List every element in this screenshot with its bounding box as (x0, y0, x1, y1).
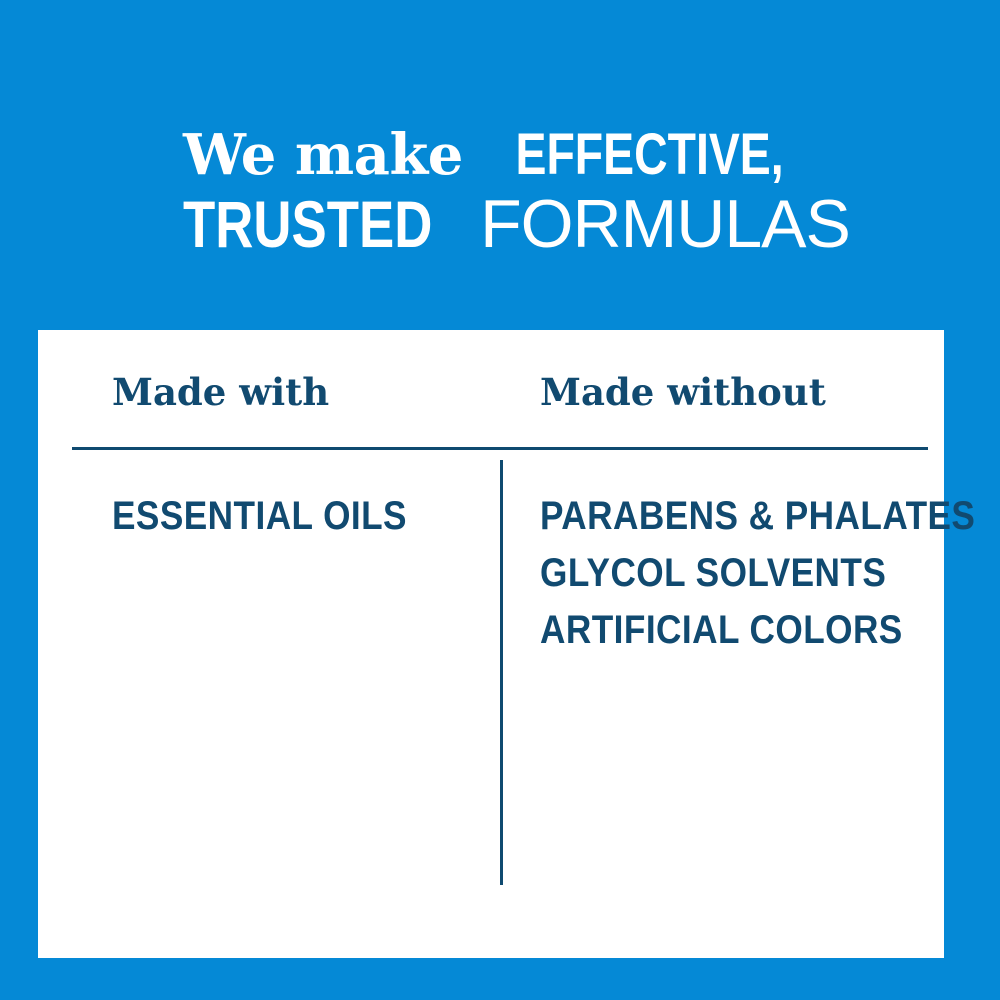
comparison-card: Made with Made without ESSENTIAL OILS PA… (38, 330, 944, 958)
headline-we-make: We make (183, 122, 482, 188)
list-item: ESSENTIAL OILS (112, 488, 438, 545)
list-item: PARABENS & PHALATES (540, 488, 881, 545)
poster-canvas: We make EFFECTIVE, TRUSTED FORMULAS Made… (0, 0, 1000, 1000)
column-header-made-without: Made without (540, 370, 826, 414)
headline-trusted: TRUSTED (183, 191, 447, 257)
column-divider-line (500, 460, 503, 885)
header-divider-rule (72, 447, 928, 450)
list-item: ARTIFICIAL COLORS (540, 602, 881, 659)
headline-line-2: TRUSTED FORMULAS (0, 190, 1000, 258)
page-title: We make EFFECTIVE, TRUSTED FORMULAS (0, 126, 1000, 258)
list-item: GLYCOL SOLVENTS (540, 545, 881, 602)
headline-effective: EFFECTIVE, (515, 126, 783, 184)
table-header-row: Made with Made without (72, 370, 928, 447)
table-body: ESSENTIAL OILS PARABENS & PHALATES GLYCO… (72, 460, 928, 930)
made-with-list: ESSENTIAL OILS (112, 488, 482, 545)
made-without-list: PARABENS & PHALATES GLYCOL SOLVENTS ARTI… (540, 488, 928, 659)
headline-line-1: We make EFFECTIVE, (0, 126, 1000, 184)
comparison-table: Made with Made without ESSENTIAL OILS PA… (72, 370, 928, 930)
headline-formulas: FORMULAS (480, 186, 850, 262)
column-header-made-with: Made with (112, 370, 329, 414)
